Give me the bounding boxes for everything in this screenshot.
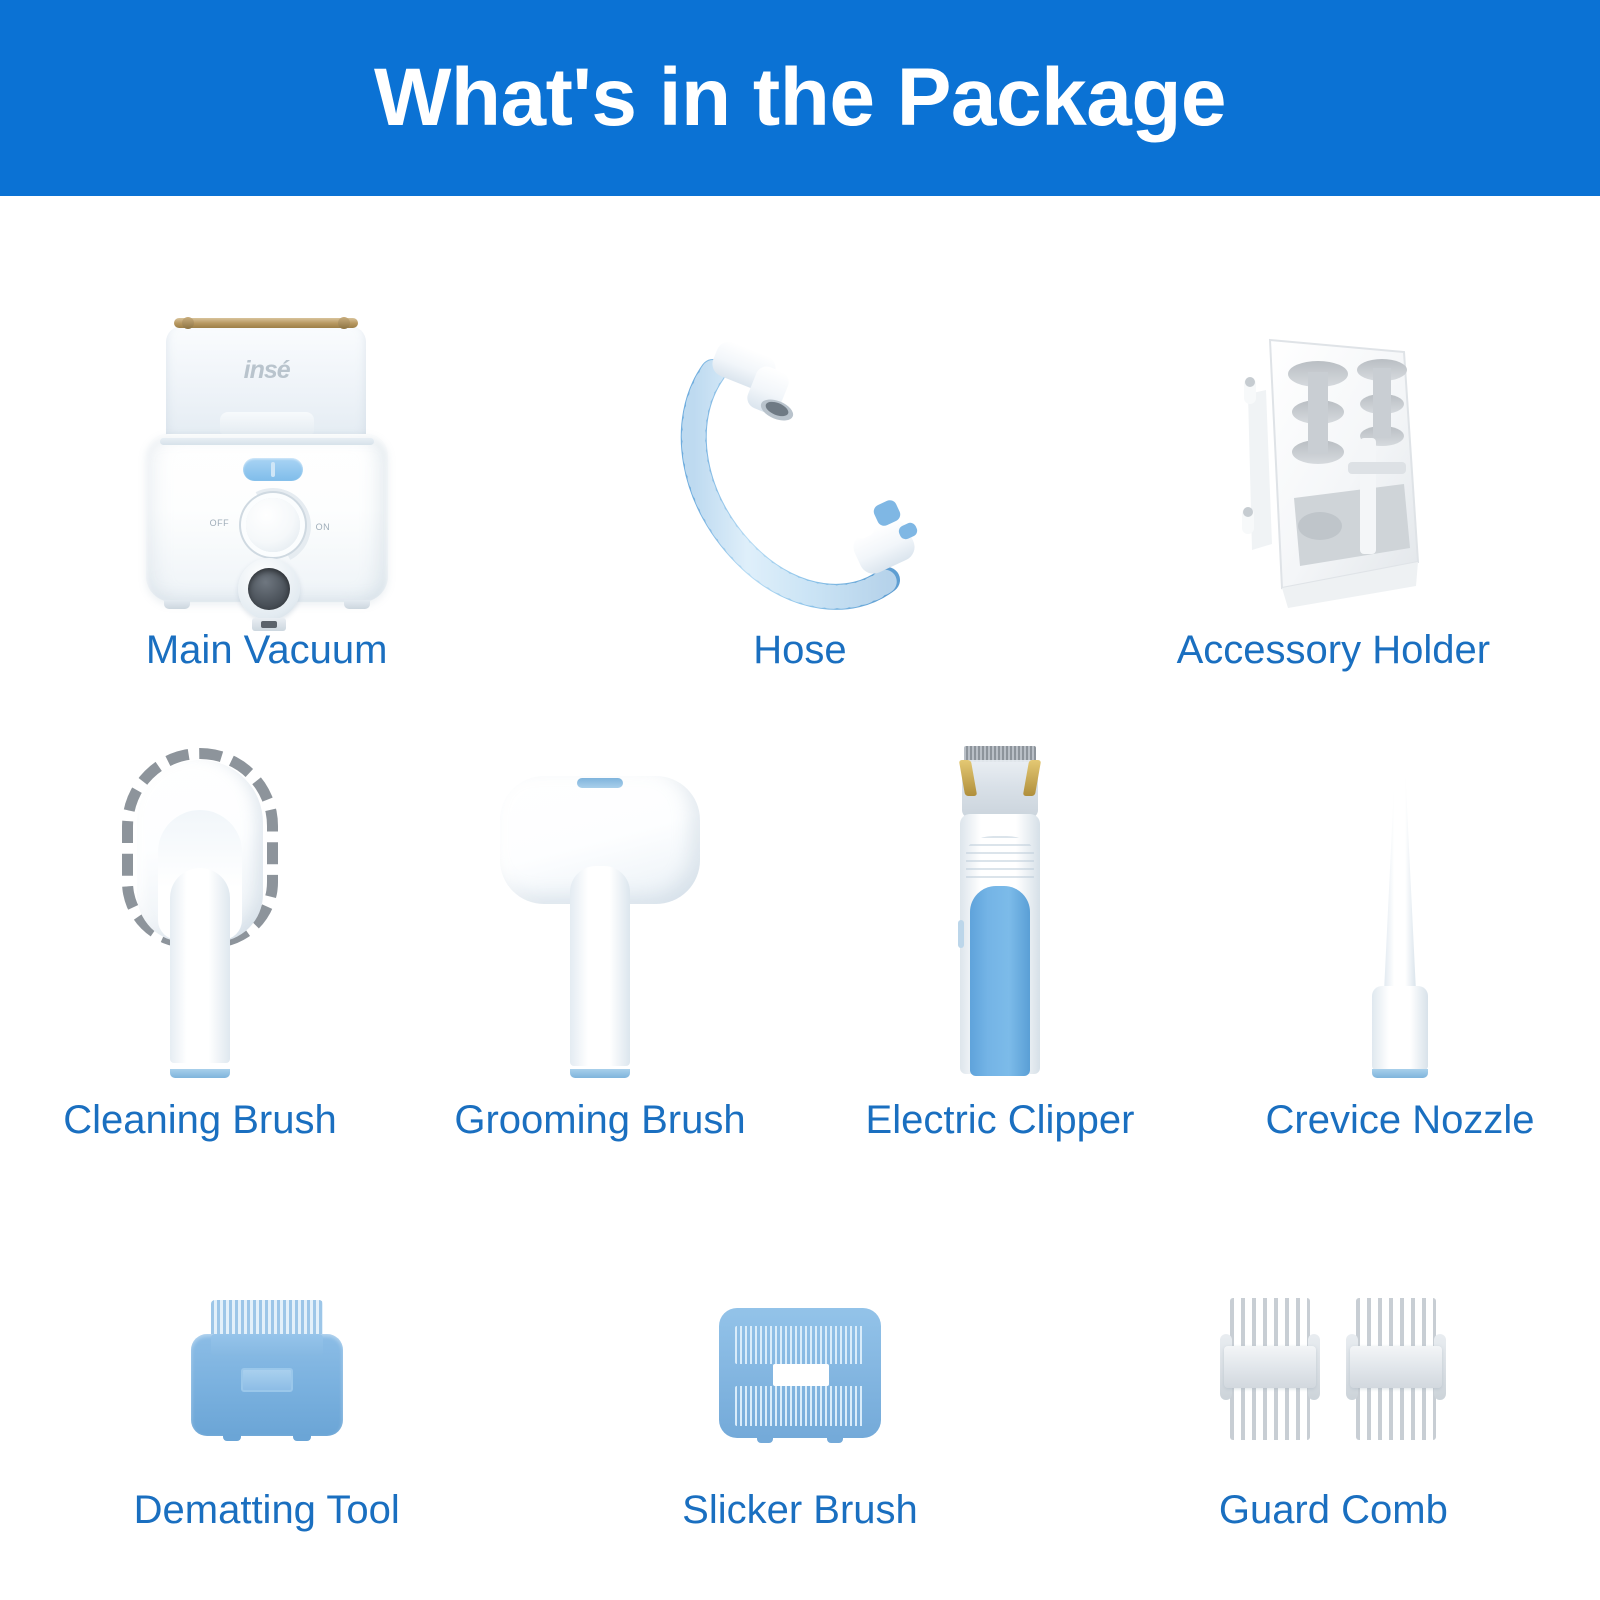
slicker-pins-bottom [735,1386,865,1426]
vacuum-foot-left [164,600,190,609]
clipper-grip [970,886,1030,1076]
guard-comb-left-plate [1224,1346,1316,1388]
main-vacuum-art: insé OFF ON [142,292,392,612]
slicker-foot-right [827,1436,843,1443]
product-cell-main-vacuum: insé OFF ON Main Vacuum [0,280,533,670]
slicker-brush-art [715,1284,885,1454]
dematting-tool-art [187,1284,347,1454]
package-contents-page: What's in the Package insé OFF ON [0,0,1600,1600]
accessory-holder-art [1208,292,1458,612]
guard-comb-right [1350,1294,1442,1444]
product-label-electric-clipper: Electric Clipper [866,1100,1135,1140]
grooming-brush-slot [577,778,623,788]
page-title: What's in the Package [374,57,1226,139]
vacuum-power-dial [246,498,300,552]
vacuum-handle [174,318,358,328]
brand-logo: insé [142,356,392,385]
slicker-brush-icon [715,1294,885,1454]
cleaning-brush-art [100,728,300,1078]
product-row-3: Dematting Tool Slicker Brush [0,1250,1600,1530]
product-cell-cleaning-brush: Cleaning Brush [0,720,400,1140]
accessory-holder-svg [1208,312,1458,612]
main-vacuum-icon: insé OFF ON [142,312,392,612]
product-label-slicker-brush: Slicker Brush [682,1490,918,1530]
product-label-guard-comb: Guard Comb [1219,1490,1448,1530]
cleaning-brush-neck [170,868,230,1063]
accessory-holder-icon [1208,312,1458,612]
guard-comb-icon [1208,1294,1458,1454]
product-label-dematting-tool: Dematting Tool [134,1490,400,1530]
product-label-hose: Hose [753,630,846,670]
product-label-crevice-nozzle: Crevice Nozzle [1266,1100,1535,1140]
dematting-tool-icon [187,1294,347,1454]
dematting-lip [211,1334,323,1356]
slicker-foot-left [757,1436,773,1443]
product-label-main-vacuum: Main Vacuum [146,630,388,670]
nozzle-collar [1372,1069,1428,1078]
product-cell-accessory-holder: Accessory Holder [1067,280,1600,670]
product-cell-slicker-brush: Slicker Brush [533,1250,1066,1530]
guard-comb-art [1208,1284,1458,1454]
slicker-slot [773,1364,829,1386]
vacuum-foot-right [344,600,370,609]
vacuum-inner-rim [220,412,314,434]
product-cell-guard-comb: Guard Comb [1067,1250,1600,1530]
product-cell-crevice-nozzle: Crevice Nozzle [1200,720,1600,1140]
grooming-brush-collar [570,1069,630,1078]
product-row-1: insé OFF ON Main Vacuum [0,280,1600,670]
hose-svg [655,312,945,612]
product-cell-hose: Hose [533,280,1066,670]
nozzle-base [1372,986,1428,1070]
product-label-grooming-brush: Grooming Brush [454,1100,745,1140]
guard-comb-left [1224,1294,1316,1444]
dematting-slot [241,1368,293,1392]
crevice-nozzle-art [1340,728,1460,1078]
slicker-pins-top [735,1326,865,1364]
vacuum-release-switch [243,458,303,481]
hose-connector-bottom [846,498,920,578]
product-cell-electric-clipper: Electric Clipper [800,720,1200,1140]
grooming-brush-neck [570,866,630,1066]
clipper-side-button [958,920,964,948]
product-label-accessory-holder: Accessory Holder [1177,630,1490,670]
nozzle-cone [1384,742,1416,992]
product-cell-dematting-tool: Dematting Tool [0,1250,533,1530]
dematting-foot-left [223,1434,241,1441]
dial-off-label: OFF [210,518,230,528]
vacuum-seam [160,438,374,445]
guard-comb-right-plate [1350,1346,1442,1388]
crevice-nozzle-icon [1340,738,1460,1078]
grooming-brush-art [490,728,710,1078]
dematting-foot-right [293,1434,311,1441]
grooming-brush-icon [490,738,710,1078]
vacuum-hose-port [248,568,290,610]
cleaning-brush-collar [170,1069,230,1078]
product-cell-grooming-brush: Grooming Brush [400,720,800,1140]
cleaning-brush-icon [100,738,300,1078]
hose-icon [655,312,945,612]
header-banner: What's in the Package [0,0,1600,196]
dial-on-label: ON [316,522,331,532]
hose-art [655,292,945,612]
electric-clipper-icon [940,738,1060,1078]
vacuum-latch-clip [252,618,286,631]
product-row-2: Cleaning Brush Grooming Brush [0,720,1600,1140]
product-label-cleaning-brush: Cleaning Brush [63,1100,337,1140]
clipper-ridges [966,836,1034,880]
electric-clipper-art [940,728,1060,1078]
